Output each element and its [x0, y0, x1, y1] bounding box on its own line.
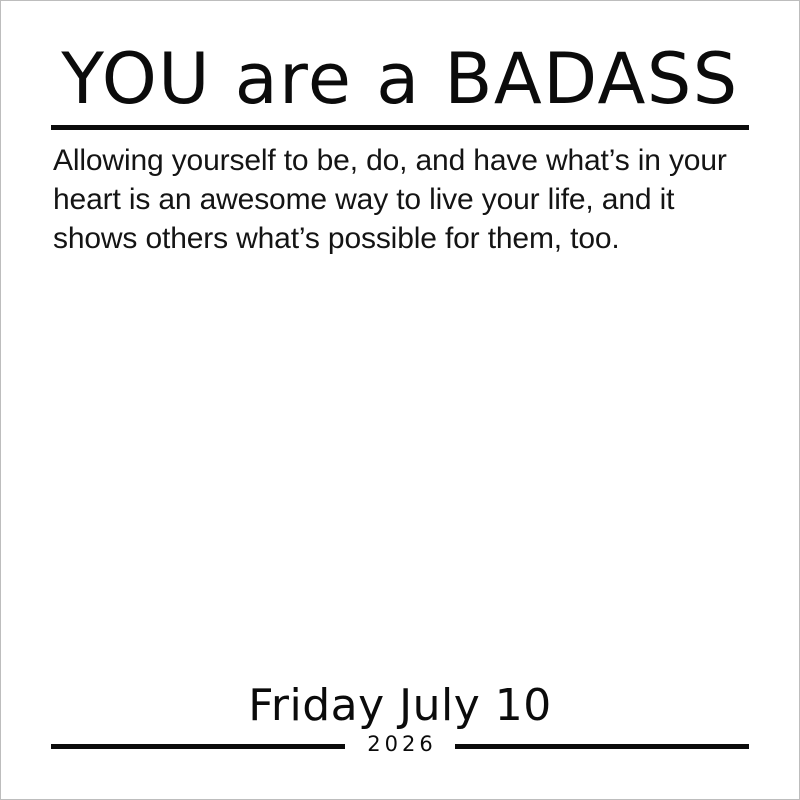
year-label: 2026: [363, 733, 436, 755]
date-label: Friday July 10: [51, 681, 749, 731]
page-content: YOU are a BADASS Allowing yourself to be…: [51, 1, 749, 799]
quote-text: Allowing yourself to be, do, and have wh…: [53, 141, 751, 258]
year-row: 2026: [51, 735, 749, 757]
page-title: YOU are a BADASS: [51, 41, 749, 117]
calendar-page: YOU are a BADASS Allowing yourself to be…: [0, 0, 800, 800]
footer-divider-left: [51, 744, 345, 749]
footer-divider-right: [455, 744, 749, 749]
footer: Friday July 10 2026: [51, 681, 749, 757]
title-divider: [51, 125, 749, 130]
header: YOU are a BADASS: [51, 41, 749, 130]
